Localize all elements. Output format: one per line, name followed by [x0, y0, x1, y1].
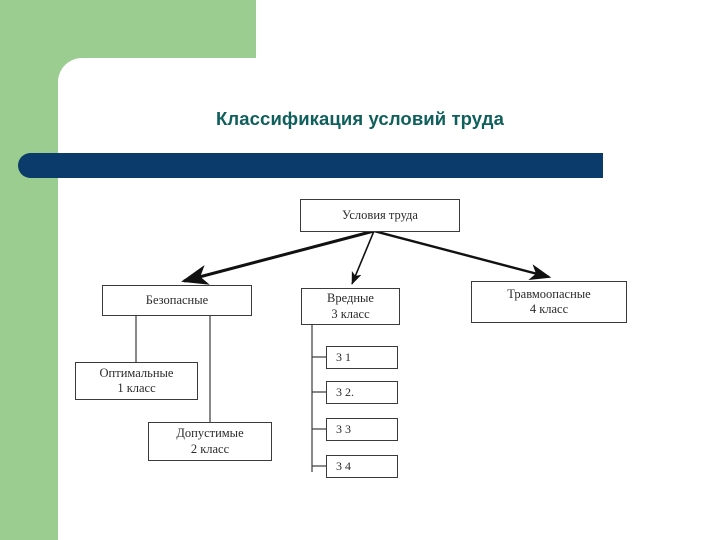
- connector-root-to-harmful: [352, 231, 374, 284]
- node-label-line1: Допустимые: [176, 426, 243, 442]
- node-harmful-3-3[interactable]: 3 3: [326, 418, 398, 441]
- slide-canvas: Классификация условий труда: [0, 0, 720, 540]
- classification-diagram: Условия труда Безопасные Вредные 3 класс…: [0, 0, 720, 540]
- node-safe[interactable]: Безопасные: [102, 285, 252, 316]
- node-label: 3 4: [336, 459, 351, 474]
- node-label-line1: Вредные: [327, 291, 374, 307]
- node-label: Условия труда: [342, 208, 418, 224]
- node-label: 3 1: [336, 350, 351, 365]
- node-label-line1: Безопасные: [146, 293, 208, 309]
- node-label-line2: 4 класс: [530, 302, 568, 318]
- connector-root-to-traumatic: [374, 231, 549, 277]
- node-harmful-3-1[interactable]: 3 1: [326, 346, 398, 369]
- node-label: 3 2.: [336, 385, 354, 400]
- node-label-line1: Травмоопасные: [507, 287, 590, 303]
- node-label-line1: Оптимальные: [100, 366, 174, 382]
- node-acceptable[interactable]: Допустимые 2 класс: [148, 422, 272, 461]
- node-harmful[interactable]: Вредные 3 класс: [301, 288, 400, 325]
- node-label-line2: 1 класс: [117, 381, 155, 397]
- node-harmful-3-4[interactable]: 3 4: [326, 455, 398, 478]
- node-traumatic[interactable]: Травмоопасные 4 класс: [471, 281, 627, 323]
- node-harmful-3-2[interactable]: 3 2.: [326, 381, 398, 404]
- connector-root-to-safe: [184, 231, 374, 281]
- node-optimal[interactable]: Оптимальные 1 класс: [75, 362, 198, 400]
- node-label-line2: 2 класс: [191, 442, 229, 458]
- node-label-line2: 3 класс: [331, 307, 369, 323]
- node-label: 3 3: [336, 422, 351, 437]
- node-root-working-conditions[interactable]: Условия труда: [300, 199, 460, 232]
